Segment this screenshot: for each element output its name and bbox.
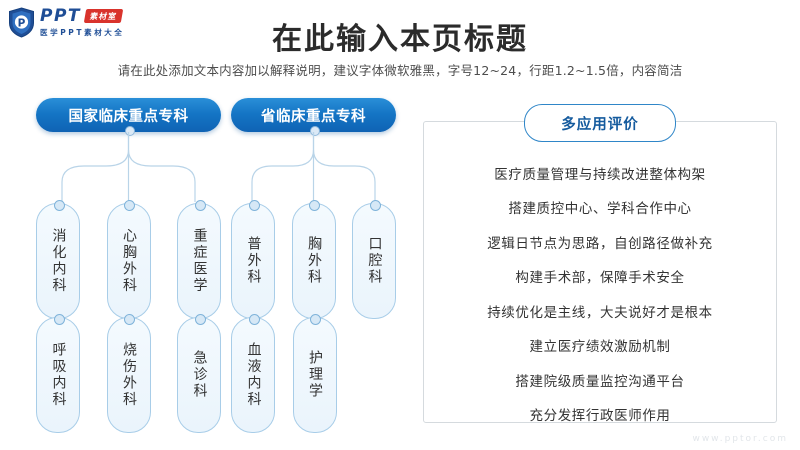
capsule[interactable]: 普外科 — [231, 203, 275, 319]
capsule-row-1: 消化内科 心胸外科 重症医学 — [36, 203, 221, 319]
panel-header-pill[interactable]: 多应用评价 — [524, 104, 676, 142]
panel-header-label: 多应用评价 — [561, 113, 639, 134]
page-subtitle: 请在此处添加文本内容加以解释说明，建议字体微软雅黑，字号12~24，行距1.2~… — [0, 60, 800, 79]
capsule-row-2: 呼吸内科 烧伤外科 急诊科 — [36, 317, 221, 433]
capsule-label: 血液内科 — [245, 342, 260, 408]
site-watermark: www.pptor.com — [692, 434, 788, 444]
capsule[interactable]: 消化内科 — [36, 203, 80, 319]
capsule-node — [54, 200, 65, 211]
diagram-group-national: 国家临床重点专科 消化内科 心胸外科 重症医学 — [36, 98, 221, 132]
capsule-label: 重症医学 — [191, 228, 206, 294]
capsule-label: 胸外科 — [306, 236, 321, 286]
capsule-label: 消化内科 — [50, 228, 65, 294]
list-item: 逻辑日节点为思路，自创路径做补充 — [487, 227, 713, 262]
capsule[interactable]: 急诊科 — [177, 317, 221, 433]
evaluation-panel: 多应用评价 医疗质量管理与持续改进整体构架 搭建质控中心、学科合作中心 逻辑日节… — [423, 121, 777, 423]
capsule[interactable]: 呼吸内科 — [36, 317, 80, 433]
list-item: 建立医疗绩效激励机制 — [530, 331, 671, 366]
capsule-node — [309, 200, 320, 211]
capsule-node — [195, 314, 206, 325]
page-title: 在此输入本页标题 — [0, 14, 800, 58]
capsule[interactable]: 口腔科 — [352, 203, 396, 319]
capsule-label: 急诊科 — [191, 350, 206, 400]
group-pill-national[interactable]: 国家临床重点专科 — [36, 98, 221, 132]
group-pill-provincial[interactable]: 省临床重点专科 — [231, 98, 396, 132]
capsule-label: 烧伤外科 — [121, 342, 136, 408]
panel-item-list: 医疗质量管理与持续改进整体构架 搭建质控中心、学科合作中心 逻辑日节点为思路，自… — [424, 158, 776, 434]
capsule-node — [310, 314, 321, 325]
group-pill-label: 国家临床重点专科 — [69, 105, 189, 126]
capsule-node — [195, 200, 206, 211]
group-pill-label: 省临床重点专科 — [261, 105, 366, 126]
list-item: 医疗质量管理与持续改进整体构架 — [494, 158, 706, 193]
capsule[interactable]: 心胸外科 — [107, 203, 151, 319]
capsule[interactable]: 重症医学 — [177, 203, 221, 319]
capsule[interactable]: 血液内科 — [231, 317, 275, 433]
list-item: 持续优化是主线，大夫说好才是根本 — [487, 296, 713, 331]
diagram-group-provincial: 省临床重点专科 普外科 胸外科 口腔科 — [231, 98, 396, 132]
list-item: 搭建院级质量监控沟通平台 — [515, 365, 684, 400]
capsule-node — [124, 314, 135, 325]
capsule-label: 普外科 — [245, 236, 260, 286]
capsule-node — [54, 314, 65, 325]
capsule-node — [124, 200, 135, 211]
org-diagram: 国家临床重点专科 消化内科 心胸外科 重症医学 — [26, 98, 401, 438]
capsule-label: 呼吸内科 — [50, 342, 65, 408]
capsule[interactable]: 烧伤外科 — [107, 317, 151, 433]
capsule-node — [249, 200, 260, 211]
capsule-row-2: 血液内科 护理学 — [231, 317, 396, 433]
capsule-node — [370, 200, 381, 211]
capsule-row-1: 普外科 胸外科 口腔科 — [231, 203, 396, 319]
capsule-empty-slot — [354, 317, 396, 431]
capsule-label: 护理学 — [307, 350, 322, 400]
capsule[interactable]: 胸外科 — [292, 203, 336, 319]
capsule-label: 口腔科 — [366, 236, 381, 286]
capsule-node — [249, 314, 260, 325]
branch-connectors — [231, 132, 396, 202]
list-item: 构建手术部，保障手术安全 — [515, 262, 684, 297]
list-item: 搭建质控中心、学科合作中心 — [508, 193, 691, 228]
branch-connectors — [36, 132, 221, 202]
list-item: 充分发挥行政医师作用 — [530, 400, 671, 435]
capsule-label: 心胸外科 — [121, 228, 136, 294]
capsule[interactable]: 护理学 — [293, 317, 337, 433]
